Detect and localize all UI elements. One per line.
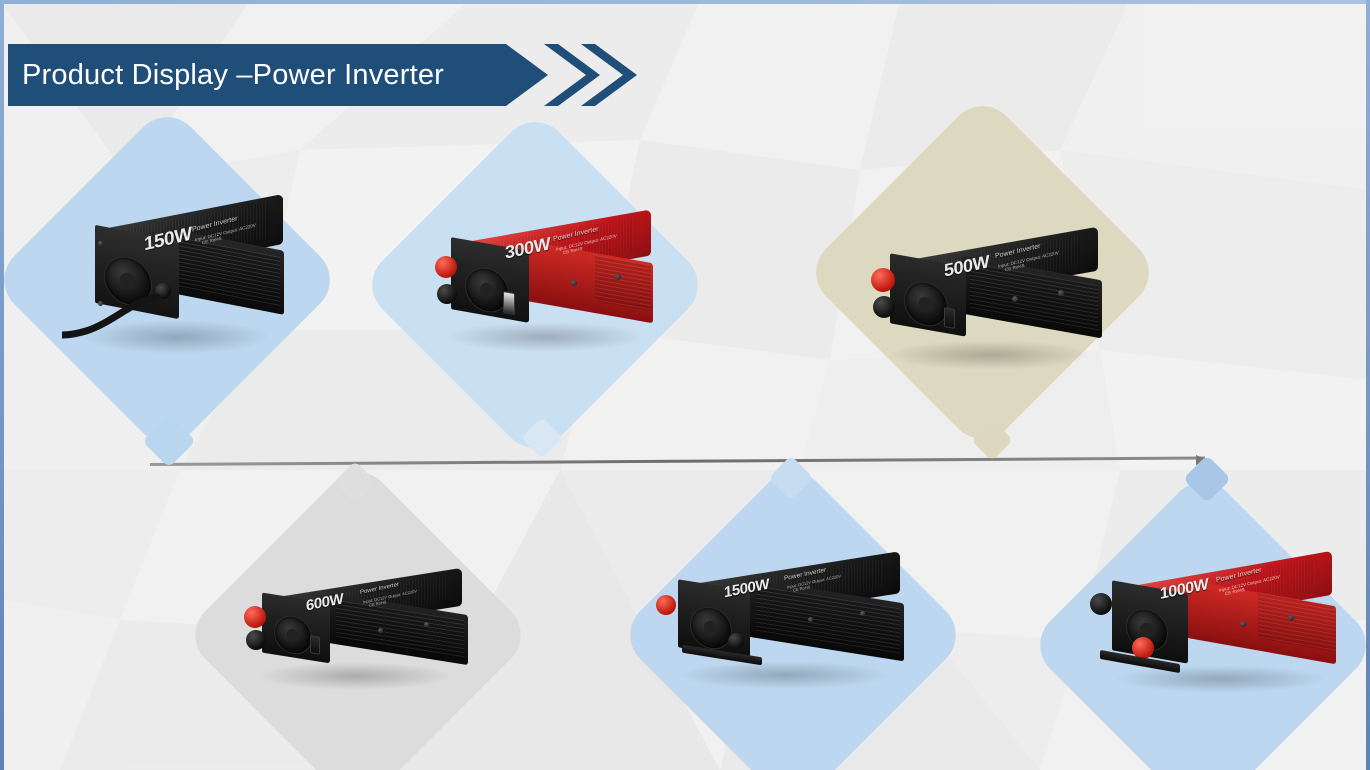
product-inverter-600w[interactable]: 600W Power Inverter Input: DC12V Output:… [238, 580, 478, 690]
product-shadow [887, 340, 1092, 370]
positive-terminal[interactable] [244, 606, 266, 628]
positive-terminal[interactable] [435, 256, 457, 278]
power-switch[interactable] [310, 635, 320, 655]
power-switch[interactable] [944, 307, 955, 329]
screw-icon [1012, 296, 1018, 302]
positive-terminal[interactable] [656, 595, 676, 615]
screw-icon [860, 611, 865, 616]
page-title: Product Display –Power Inverter [22, 44, 444, 106]
screw-icon [615, 274, 621, 280]
power-switch[interactable] [503, 291, 515, 315]
product-inverter-1000w[interactable]: 1000W Power Inverter Input: DC12V Output… [1088, 565, 1353, 695]
screw-icon [424, 622, 429, 627]
product-inverter-300w[interactable]: 300W Power Inverter Input: DC12V Output:… [425, 222, 670, 352]
screw-icon [378, 628, 383, 633]
negative-terminal[interactable] [1090, 593, 1112, 615]
title-banner: Product Display –Power Inverter [8, 44, 608, 106]
screw-icon [1288, 615, 1294, 621]
product-shadow [445, 322, 645, 352]
top-edge-strip [0, 0, 1370, 4]
positive-terminal[interactable] [871, 268, 895, 292]
chevron-right-icon [544, 44, 600, 106]
power-cable [62, 293, 162, 339]
left-edge-strip [0, 0, 4, 770]
product-inverter-500w[interactable]: 500W Power Inverter Input: DC12V Output:… [862, 240, 1117, 370]
slide-canvas: 150W Power Inverter Input: DC12V Output:… [0, 0, 1370, 770]
screw-icon [1240, 621, 1246, 627]
screw-icon [571, 280, 577, 286]
negative-terminal[interactable] [246, 630, 266, 650]
negative-terminal[interactable] [728, 633, 744, 649]
screw-icon [1058, 290, 1064, 296]
right-edge-strip [1366, 0, 1370, 770]
inverter-heat-fins [595, 255, 651, 311]
screw-icon [98, 241, 103, 246]
screw-icon [808, 617, 813, 622]
negative-terminal[interactable] [437, 284, 457, 304]
product-shadow [258, 662, 453, 690]
negative-terminal[interactable] [873, 296, 895, 318]
product-shadow [677, 661, 892, 689]
product-inverter-150w[interactable]: 150W Power Inverter Input: DC12V Output:… [62, 205, 297, 355]
product-inverter-1500w[interactable]: 1500W Power Inverter Input: DC12V Output… [652, 565, 917, 690]
product-shadow [1113, 665, 1328, 693]
